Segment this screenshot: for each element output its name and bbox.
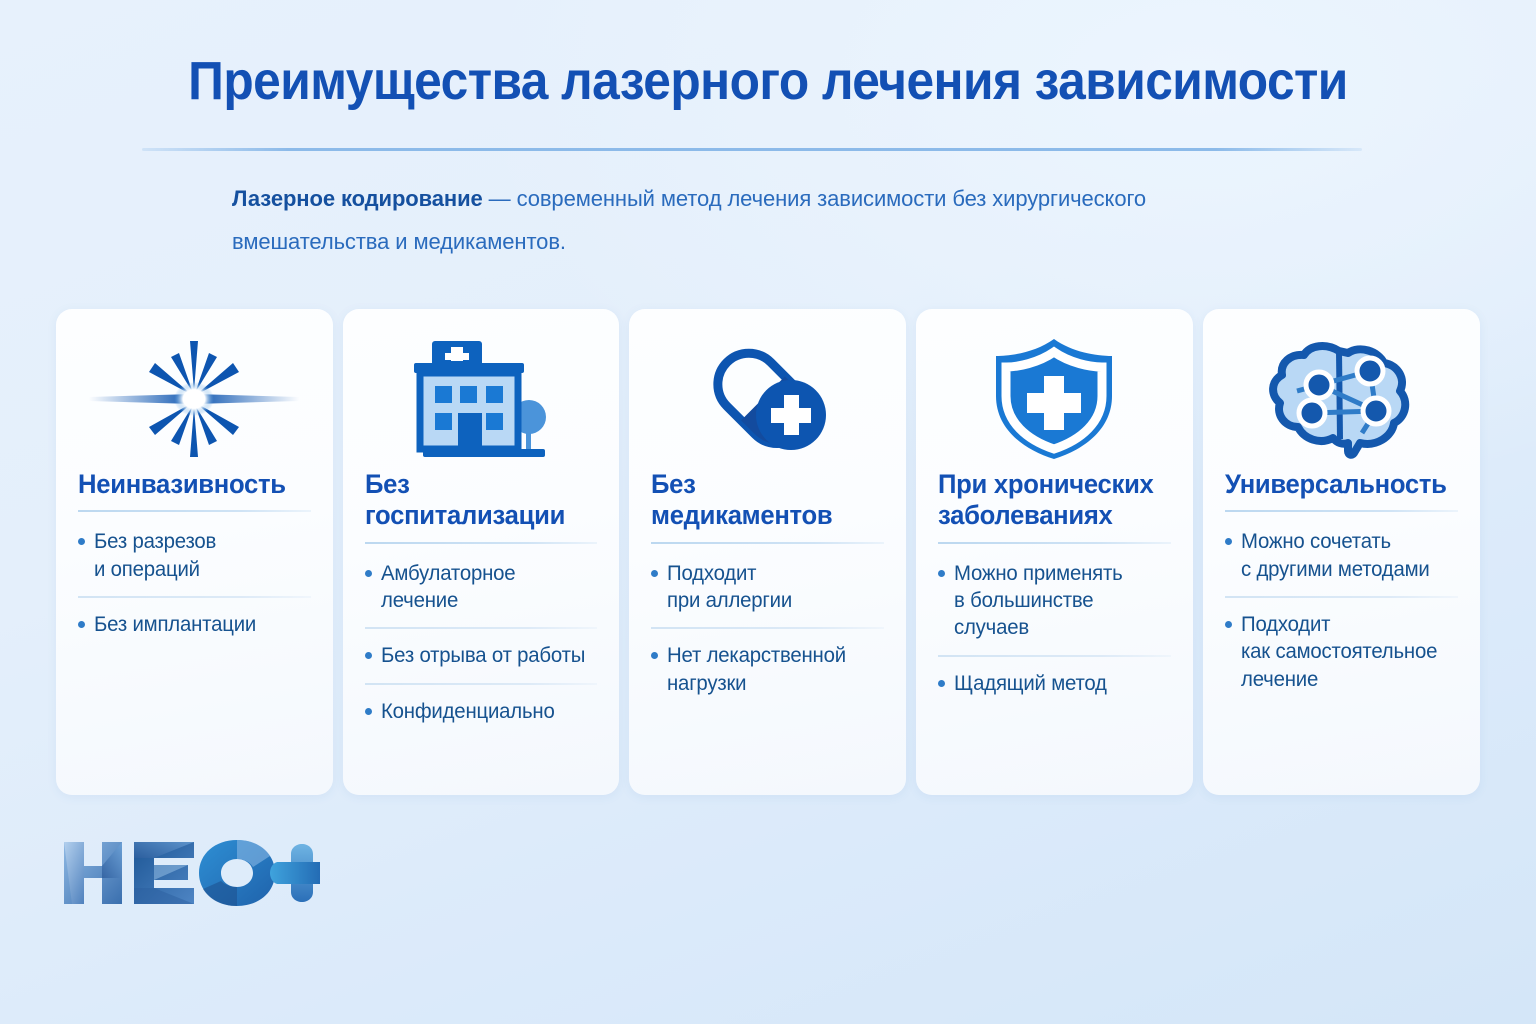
bullet-text: Без отрыва от работы: [381, 642, 585, 669]
header: Преимущества лазерного лечения зависимос…: [0, 52, 1536, 110]
bullet-divider: [938, 655, 1171, 657]
card-title-divider: [938, 542, 1171, 544]
subtitle: Лазерное кодирование — современный метод…: [232, 178, 1192, 264]
card-title-divider: [1225, 510, 1458, 512]
card-title: Универсальность: [1225, 469, 1447, 500]
bullet-text: Конфиденциально: [381, 698, 555, 725]
bullet-dot-icon: [365, 708, 372, 715]
shield-cross-icon: [938, 335, 1171, 463]
benefit-cards: Неинвазивность Без разрезов и операций Б…: [56, 309, 1480, 795]
list-item: Без имплантации: [78, 596, 311, 638]
bullet-list: Подходит при аллергии Нет лекарственной …: [651, 560, 884, 697]
bullet-dot-icon: [1225, 621, 1232, 628]
list-item: Можно применять в большинстве случаев: [938, 560, 1171, 642]
bullet-dot-icon: [1225, 538, 1232, 545]
list-item: Без разрезов и операций: [78, 528, 311, 583]
benefit-card-5[interactable]: Универсальность Можно сочетать с другими…: [1203, 309, 1480, 795]
card-title: Неинвазивность: [78, 469, 299, 500]
list-item: Амбулаторное лечение: [365, 560, 598, 615]
card-title-divider: [651, 542, 884, 544]
bullet-text: Можно сочетать с другими методами: [1241, 528, 1430, 583]
bullet-divider: [78, 596, 311, 598]
pill-capsule-icon: [651, 335, 884, 463]
bullet-list: Без разрезов и операций Без имплантации: [78, 528, 311, 638]
hospital-building-icon: [365, 335, 598, 463]
benefit-card-3[interactable]: Без медикаментов Подходит при аллергии Н…: [629, 309, 906, 795]
subtitle-strong: Лазерное кодирование: [232, 186, 483, 211]
bullet-text: Нет лекарственной нагрузки: [667, 642, 846, 697]
list-item: Щадящий метод: [938, 655, 1171, 697]
list-item: Подходит при аллергии: [651, 560, 884, 615]
list-item: Подходит как самостоятельное лечение: [1225, 596, 1458, 693]
list-item: Без отрыва от работы: [365, 627, 598, 669]
bullet-list: Амбулаторное лечение Без отрыва от работ…: [365, 560, 598, 725]
list-item: Нет лекарственной нагрузки: [651, 627, 884, 697]
bullet-dot-icon: [938, 570, 945, 577]
bullet-divider: [651, 627, 884, 629]
bullet-text: Без разрезов и операций: [94, 528, 216, 583]
card-title: Без медикаментов: [651, 469, 872, 532]
list-item: Конфиденциально: [365, 683, 598, 725]
bullet-text: Подходит как самостоятельное лечение: [1241, 611, 1437, 693]
bullet-dot-icon: [938, 680, 945, 687]
card-title: Без госпитализации: [365, 469, 586, 532]
bullet-dot-icon: [78, 538, 85, 545]
bullet-text: Щадящий метод: [954, 670, 1107, 697]
benefit-card-1[interactable]: Неинвазивность Без разрезов и операций Б…: [56, 309, 333, 795]
infographic-page: Преимущества лазерного лечения зависимос…: [0, 0, 1536, 1024]
bullet-divider: [365, 627, 598, 629]
benefit-card-2[interactable]: Без госпитализации Амбулаторное лечение …: [343, 309, 620, 795]
bullet-text: Без имплантации: [94, 611, 256, 638]
neo-plus-logo[interactable]: [62, 838, 320, 908]
bullet-text: Амбулаторное лечение: [381, 560, 515, 615]
bullet-text: Подходит при аллергии: [667, 560, 792, 615]
bullet-list: Можно сочетать с другими методами Подход…: [1225, 528, 1458, 692]
card-title-divider: [365, 542, 598, 544]
card-title: При хронических заболеваниях: [938, 469, 1159, 532]
bullet-dot-icon: [651, 570, 658, 577]
bullet-dot-icon: [78, 621, 85, 628]
card-title-divider: [78, 510, 311, 512]
bullet-dot-icon: [365, 570, 372, 577]
title-divider: [142, 148, 1362, 151]
bullet-text: Можно применять в большинстве случаев: [954, 560, 1164, 642]
list-item: Можно сочетать с другими методами: [1225, 528, 1458, 583]
bullet-dot-icon: [651, 652, 658, 659]
bullet-dot-icon: [365, 652, 372, 659]
bullet-divider: [1225, 596, 1458, 598]
bullet-divider: [365, 683, 598, 685]
bullet-list: Можно применять в большинстве случаев Ща…: [938, 560, 1171, 697]
laser-burst-icon: [78, 335, 311, 463]
page-title: Преимущества лазерного лечения зависимос…: [61, 52, 1474, 110]
brain-network-icon: [1225, 335, 1458, 463]
benefit-card-4[interactable]: При хронических заболеваниях Можно приме…: [916, 309, 1193, 795]
